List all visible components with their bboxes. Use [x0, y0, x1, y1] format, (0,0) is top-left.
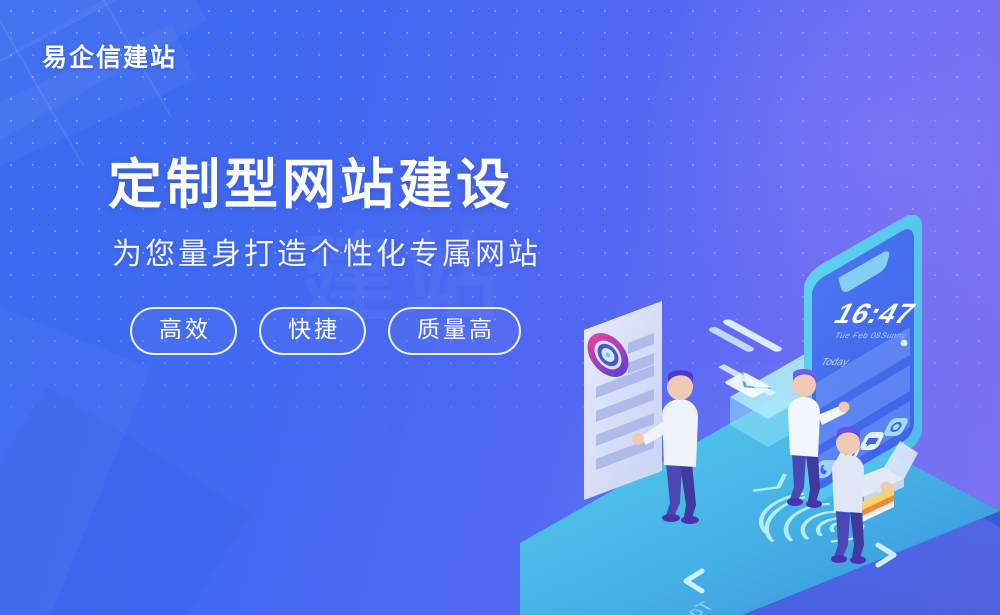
- feature-pill-efficient[interactable]: 高效: [130, 307, 237, 355]
- site-logo[interactable]: 易企信建站: [42, 38, 177, 74]
- ribbon-shape-5: [0, 386, 251, 615]
- document-panel: [584, 301, 662, 500]
- hero-banner: 建站 易企信建站 定制型网站建设 为您量身打造个性化专属网站 高效 快捷 质量高: [0, 0, 1000, 615]
- feature-pill-fast[interactable]: 快捷: [259, 307, 366, 355]
- diagonal-line-2: [0, 0, 84, 166]
- ribbon-shape-2: [0, 0, 207, 170]
- hero-illustration: Touch ID: [480, 215, 1000, 615]
- phone-date: Tue Feb 08: [833, 330, 883, 339]
- page-title: 定制型网站建设: [108, 155, 578, 215]
- phone-time: 16:47: [829, 299, 922, 330]
- phone-camera-dot: [901, 340, 908, 347]
